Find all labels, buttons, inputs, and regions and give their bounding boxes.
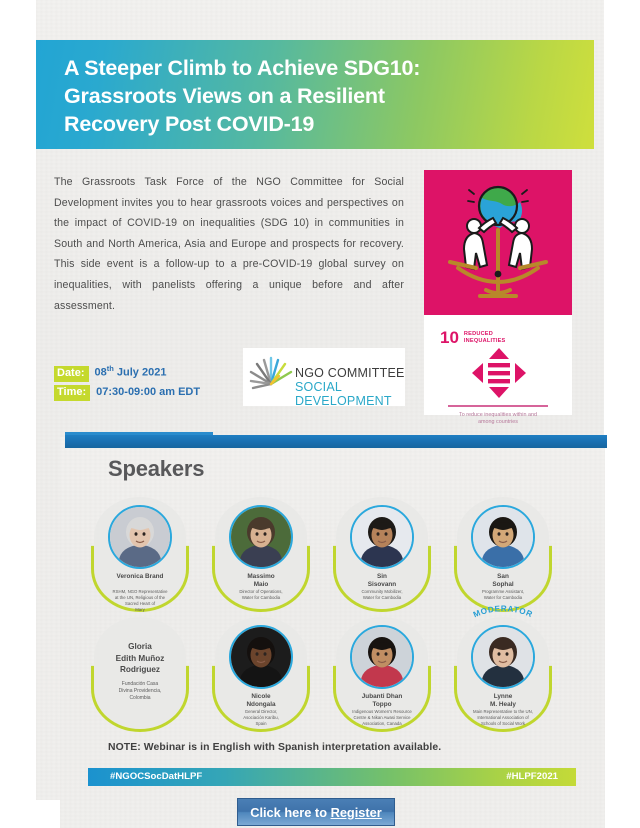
- speaker-name: NicoleNdongala: [217, 693, 305, 709]
- ngo-committee-logo: NGO COMMITTEE SOCIAL DEVELOPMENT: [243, 348, 405, 406]
- speaker-name-line: Veronica Brand: [117, 573, 164, 580]
- register-prefix: Click here to: [250, 805, 330, 820]
- hashtag-right: #HLPF2021: [506, 771, 558, 782]
- section-divider: [65, 435, 607, 448]
- speaker-role-line: Water for Cambodia: [363, 595, 401, 600]
- speaker-role-line: Indigenous Women's Resource: [352, 709, 412, 714]
- page-title: A Steeper Climb to Achieve SDG10: Grassr…: [64, 54, 564, 138]
- speaker-role-line: International Association of: [477, 715, 528, 720]
- speaker-role-line: Water for Cambodia: [242, 595, 280, 600]
- speaker-role-line: Colombia: [129, 695, 150, 701]
- time-label: Time:: [54, 385, 90, 401]
- speaker-role-line: Water for Cambodia: [484, 595, 522, 600]
- speaker-name: Veronica Brand: [96, 573, 184, 581]
- speaker-name-line: Ndongala: [246, 701, 275, 708]
- speaker-name: SanSophal: [459, 573, 547, 589]
- ngo-logo-line-1: NGO COMMITTEE: [295, 366, 405, 380]
- speaker-avatar: [350, 625, 414, 689]
- speaker-role: General Director,Asociación Karibu,Spain: [219, 709, 303, 727]
- sdg-caption-line-2: among countries: [478, 419, 518, 425]
- header-banner: A Steeper Climb to Achieve SDG10: Grassr…: [36, 40, 594, 149]
- equality-arrows-icon: [472, 348, 526, 398]
- ngo-logo-line-2: SOCIAL DEVELOPMENT: [295, 380, 405, 406]
- date-label: Date:: [54, 366, 89, 382]
- sdg-number: 10: [440, 330, 459, 345]
- speaker-name: GloriaEdith MuñozRodriguez: [96, 641, 184, 676]
- speaker-role-line: Divina Providencia,: [119, 688, 162, 694]
- speaker-role: RSHM, NGO Representativeat the UN, Relig…: [98, 589, 182, 613]
- speaker-name-line: Nicole: [251, 693, 270, 700]
- speaker-avatar: [350, 505, 414, 569]
- speaker-role: Community Mobilizer,Water for Cambodia: [340, 589, 424, 601]
- speaker-card[interactable]: SanSophalProgramme Assistant,Water for C…: [457, 497, 549, 609]
- time-row: Time: 07:30-09:00 am EDT: [54, 385, 200, 400]
- date-month-year: July 2021: [114, 367, 167, 379]
- sdg-caption: To reduce inequalities within and among …: [438, 412, 558, 427]
- date-value: 08th July 2021: [95, 364, 167, 379]
- speaker-role-line: Main Representative to the UN,: [473, 709, 533, 714]
- speaker-role: Director of Operations,Water for Cambodi…: [219, 589, 303, 601]
- date-row: Date: 08th July 2021: [54, 364, 200, 379]
- speaker-card[interactable]: MassimoMaioDirector of Operations,Water …: [215, 497, 307, 609]
- speaker-avatar: [108, 505, 172, 569]
- speakers-heading: Speakers: [108, 456, 204, 482]
- balance-scale-globe-illustration: [424, 170, 572, 315]
- hashtag-left: #NGOCSocDatHLPF: [110, 771, 202, 782]
- speaker-name-line: Jubanti Dhan: [362, 693, 402, 700]
- speaker-name: Jubanti DhanToppo: [338, 693, 426, 709]
- sdg-illustration: [424, 170, 572, 315]
- event-description: The Grassroots Task Force of the NGO Com…: [54, 172, 404, 316]
- hashtag-bar: #NGOCSocDatHLPF #HLPF2021: [88, 768, 576, 786]
- speaker-role-line: Mary: [135, 607, 145, 612]
- title-line-1: A Steeper Climb to Achieve SDG10:: [64, 54, 564, 82]
- speaker-name-line: Edith Muñoz: [116, 654, 165, 663]
- speaker-name-line: Sin: [377, 573, 387, 580]
- speaker-card[interactable]: NicoleNdongalaGeneral Director,Asociació…: [215, 617, 307, 729]
- speaker-name: LynneM. Healy: [459, 693, 547, 709]
- speaker-card[interactable]: GloriaEdith MuñozRodriguezFundación Casa…: [94, 617, 186, 729]
- sdg-title-line-2: INEQUALITIES: [464, 338, 506, 344]
- speaker-role: Main Representative to the UN,Internatio…: [461, 709, 545, 727]
- interpretation-note: NOTE: Webinar is in English with Spanish…: [108, 742, 441, 753]
- register-link: Register: [331, 805, 382, 820]
- speaker-role-line: Asociación Karibu,: [243, 715, 279, 720]
- flyer-page: A Steeper Climb to Achieve SDG10: Grassr…: [0, 0, 640, 828]
- speaker-name-line: Massimo: [247, 573, 274, 580]
- speaker-name-line: M. Healy: [490, 701, 516, 708]
- speaker-name: SinSisovann: [338, 573, 426, 589]
- speaker-role-line: at the UN, Religious of the: [115, 595, 165, 600]
- speaker-card[interactable]: Veronica BrandRSHM, NGO Representativeat…: [94, 497, 186, 609]
- speaker-card[interactable]: Jubanti DhanToppoIndigenous Women's Reso…: [336, 617, 428, 729]
- speaker-role-line: Community Mobilizer,: [361, 589, 402, 594]
- speaker-card[interactable]: SinSisovannCommunity Mobilizer,Water for…: [336, 497, 428, 609]
- speaker-role-line: Schools of Social Work: [481, 721, 525, 726]
- speaker-name-line: Lynne: [494, 693, 513, 700]
- speaker-role: Indigenous Women's ResourceCentre & Nika…: [340, 709, 424, 727]
- sdg-caption-line-1: To reduce inequalities within and: [459, 412, 537, 418]
- speaker-role-line: Spain: [256, 721, 267, 726]
- speaker-role: Fundación CasaDivina Providencia,Colombi…: [98, 681, 182, 702]
- speaker-avatar: [229, 505, 293, 569]
- speaker-name: MassimoMaio: [217, 573, 305, 589]
- date-day: 08: [95, 367, 107, 379]
- speaker-avatar: [471, 505, 535, 569]
- speaker-name-line: Sisovann: [368, 581, 396, 588]
- speaker-role-line: Director of Operations,: [239, 589, 282, 594]
- speaker-role-line: Programme Assistant,: [482, 589, 524, 594]
- speaker-card[interactable]: MODERATORLynneM. HealyMain Representativ…: [457, 617, 549, 729]
- speaker-name-line: Rodriguez: [120, 665, 160, 674]
- speaker-name-line: Maio: [254, 581, 269, 588]
- title-line-3: Recovery Post COVID-19: [64, 110, 564, 138]
- starburst-icon: [249, 354, 295, 394]
- sdg-divider-rule: [448, 405, 548, 407]
- speaker-role: Programme Assistant,Water for Cambodia: [461, 589, 545, 601]
- speaker-name-line: Toppo: [372, 701, 391, 708]
- sdg-10-panel: 10 REDUCED INEQUALITIES To reduce inequa…: [424, 170, 572, 415]
- register-button[interactable]: Click here to Register: [237, 798, 395, 826]
- sdg-code: 10 REDUCED INEQUALITIES: [440, 330, 505, 345]
- register-button-label: Click here to Register: [250, 805, 382, 820]
- speaker-role-line: Centre & Nikan Awasi Service: [354, 715, 411, 720]
- sdg-title: REDUCED INEQUALITIES: [464, 331, 506, 344]
- speaker-role-line: Sacred Heart of: [125, 601, 155, 606]
- ngo-logo-text: NGO COMMITTEE SOCIAL DEVELOPMENT: [295, 366, 405, 406]
- speaker-avatar: [229, 625, 293, 689]
- event-meta: Date: 08th July 2021 Time: 07:30-09:00 a…: [54, 364, 200, 406]
- title-line-2: Grassroots Views on a Resilient: [64, 82, 564, 110]
- date-ordinal: th: [107, 364, 114, 373]
- speaker-role-line: RSHM, NGO Representative: [113, 589, 168, 594]
- speaker-role-line: Association, Canada: [362, 721, 401, 726]
- time-value: 07:30-09:00 am EDT: [96, 386, 200, 398]
- speaker-name-line: San: [497, 573, 509, 580]
- speaker-role-line: General Director,: [245, 709, 277, 714]
- speaker-avatar: [471, 625, 535, 689]
- speaker-name-line: Gloria: [128, 642, 152, 651]
- speaker-name-line: Sophal: [492, 581, 513, 588]
- speaker-role-line: Fundación Casa: [122, 681, 158, 687]
